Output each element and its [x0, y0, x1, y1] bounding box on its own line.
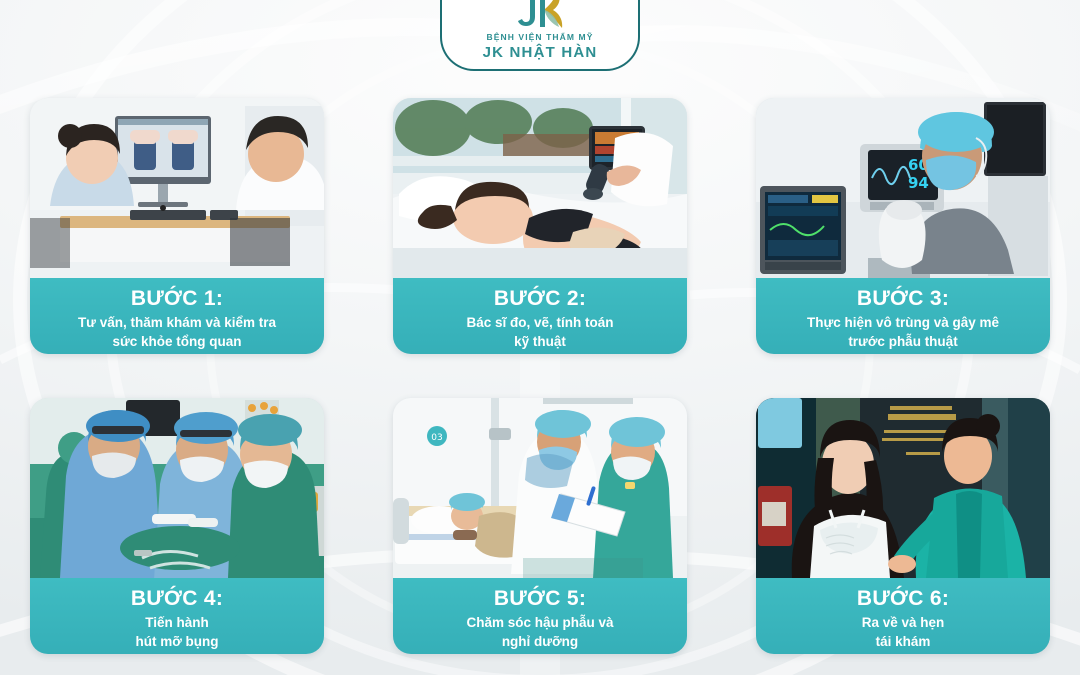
step-4-desc-line2: hút mỡ bụng	[135, 633, 218, 652]
step-1-photo	[30, 98, 324, 278]
brand-name: JK NHẬT HÀN	[483, 45, 598, 62]
recovery-room-illustration: 03	[393, 398, 687, 578]
step-1-title: BƯỚC 1:	[131, 287, 223, 311]
step-2-photo	[393, 98, 687, 278]
step-6-desc-line1: Ra về và hẹn	[862, 614, 945, 633]
step-5-caption: BƯỚC 5: Chăm sóc hậu phẫu và nghỉ dưỡng	[393, 578, 687, 654]
consultation-scene-illustration	[30, 98, 324, 278]
step-1-desc-line1: Tư vấn, thăm khám và kiểm tra	[78, 314, 276, 333]
step-3-caption: BƯỚC 3: Thực hiện vô trùng và gây mê trư…	[756, 278, 1050, 354]
monitor-spo2-value: 94	[908, 174, 929, 192]
step-card-6[interactable]: BƯỚC 6: Ra về và hẹn tái khám	[756, 398, 1050, 654]
step-2-title: BƯỚC 2:	[494, 287, 586, 311]
step-3-title: BƯỚC 3:	[857, 287, 949, 311]
step-card-3[interactable]: 60 94	[756, 98, 1050, 354]
step-3-desc-line2: trước phẫu thuật	[848, 333, 957, 352]
step-1-desc-line2: sức khỏe tổng quan	[112, 333, 241, 352]
wall-badge-text: 03	[431, 433, 442, 443]
step-5-photo: 03	[393, 398, 687, 578]
step-card-1[interactable]: BƯỚC 1: Tư vấn, thăm khám và kiểm tra sứ…	[30, 98, 324, 354]
step-4-photo	[30, 398, 324, 578]
step-4-title: BƯỚC 4:	[131, 587, 223, 611]
step-2-caption: BƯỚC 2: Bác sĩ đo, vẽ, tính toán kỹ thuậ…	[393, 278, 687, 354]
step-3-photo: 60 94	[756, 98, 1050, 278]
step-6-desc-line2: tái khám	[876, 633, 931, 652]
step-5-desc-line2: nghỉ dưỡng	[502, 633, 578, 652]
anesthesia-scene-illustration: 60 94	[756, 98, 1050, 278]
ultrasound-measurement-illustration	[393, 98, 687, 278]
step-6-photo	[756, 398, 1050, 578]
step-card-4[interactable]: BƯỚC 4: Tiến hành hút mỡ bụng	[30, 398, 324, 654]
reception-farewell-illustration	[756, 398, 1050, 578]
step-5-title: BƯỚC 5:	[494, 587, 586, 611]
step-3-desc-line1: Thực hiện vô trùng và gây mê	[807, 314, 999, 333]
jk-monogram-icon	[510, 0, 570, 31]
surgery-team-illustration	[30, 398, 324, 578]
step-card-5[interactable]: 03	[393, 398, 687, 654]
step-6-title: BƯỚC 6:	[857, 587, 949, 611]
brand-logo-tab: BỆNH VIỆN THẨM MỸ JK NHẬT HÀN	[440, 0, 640, 71]
brand-subtitle: BỆNH VIỆN THẨM MỸ	[486, 33, 593, 42]
step-1-caption: BƯỚC 1: Tư vấn, thăm khám và kiểm tra sứ…	[30, 278, 324, 354]
step-4-desc-line1: Tiến hành	[145, 614, 209, 633]
steps-grid: BƯỚC 1: Tư vấn, thăm khám và kiểm tra sứ…	[30, 98, 1050, 654]
step-6-caption: BƯỚC 6: Ra về và hẹn tái khám	[756, 578, 1050, 654]
step-2-desc-line1: Bác sĩ đo, vẽ, tính toán	[466, 314, 613, 333]
step-2-desc-line2: kỹ thuật	[514, 333, 566, 352]
step-card-2[interactable]: BƯỚC 2: Bác sĩ đo, vẽ, tính toán kỹ thuậ…	[393, 98, 687, 354]
step-5-desc-line1: Chăm sóc hậu phẫu và	[466, 614, 613, 633]
step-4-caption: BƯỚC 4: Tiến hành hút mỡ bụng	[30, 578, 324, 654]
